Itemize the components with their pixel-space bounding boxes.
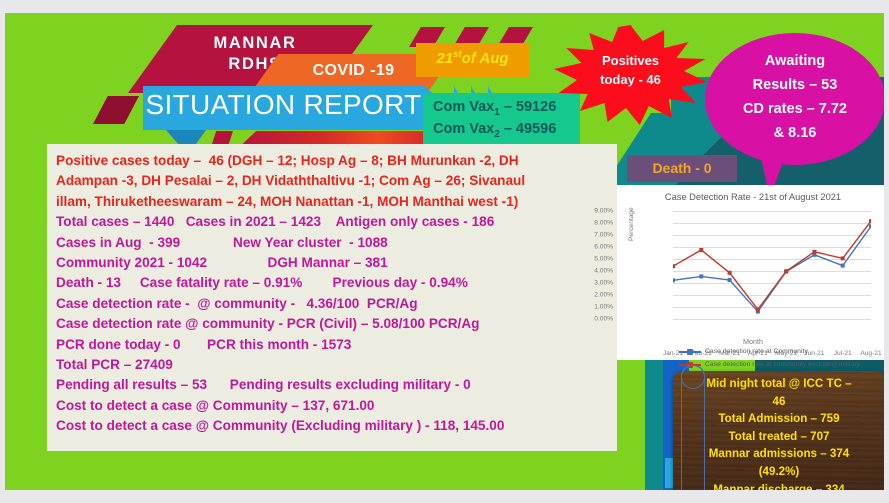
body-red-line: Adampan -3, DH Pesalai – 2, DH Vidaththa… [56, 171, 617, 191]
statistics-card-inner: Positive cases today – 46 (DGH – 12; Hos… [47, 144, 617, 437]
chart-y-tick: 6.00% [579, 244, 613, 251]
icc-tc-line: Mid night total @ ICC TC – [673, 375, 884, 393]
chart-marker [728, 271, 732, 275]
body-stat-line: Total cases – 1440 Cases in 2021 – 1423 … [56, 212, 617, 232]
body-stat-line: Case detection rate - @ community - 4.36… [56, 294, 617, 314]
chart-legend: Case detection rate at CommunityCase det… [679, 345, 860, 371]
awaiting-results-callout: Awaiting Results – 53 CD rates – 7.72 & … [705, 49, 884, 145]
chart-y-axis-label: Percentage [628, 207, 635, 241]
date-day: 21 [436, 50, 453, 67]
body-stat-line: Total PCR – 27409 [56, 355, 617, 375]
chart-marker [841, 256, 845, 260]
icc-tc-line: (49.2%) [673, 463, 884, 481]
com-vax-1-label: Com Vax [433, 99, 494, 115]
chart-marker [699, 274, 703, 278]
body-stat-line: PCR done today - 0 PCR this month - 1573 [56, 335, 617, 355]
icc-tc-line: Total treated – 707 [673, 428, 884, 446]
body-stat-line: Cost to detect a case @ Community – 137,… [56, 396, 617, 416]
body-stat-line: Death - 13 Case fatality rate – 0.91% Pr… [56, 273, 617, 293]
chart-y-tick: 8.00% [579, 220, 613, 227]
date-month: of Aug [462, 50, 509, 67]
chart-y-tick: 5.00% [579, 256, 613, 263]
body-stat-line: Community 2021 - 1042 DGH Mannar – 381 [56, 253, 617, 273]
chart-plot-area: 0.00%1.00%2.00%3.00%4.00%5.00%6.00%7.00%… [673, 211, 871, 319]
awaiting-line-4: & 8.16 [705, 121, 884, 145]
body-red-line: illam, Thiruketheeswaram – 24, MOH Nanat… [56, 192, 617, 212]
chart-legend-label: Case detection rate at Community [705, 348, 808, 355]
chart-series-svg [673, 211, 871, 319]
chart-line [673, 226, 871, 311]
com-vax-1: Com Vax1 – 59126 [433, 99, 556, 118]
chart-legend-swatch [679, 351, 701, 353]
chart-y-tick: 9.00% [579, 208, 613, 215]
chart-legend-item: Case detection rate at Community [679, 345, 860, 358]
body-red-line: Positive cases today – 46 (DGH – 12; Hos… [56, 151, 617, 171]
chart-legend-item: Case detection rate at community excludi… [679, 358, 860, 371]
chart-marker [728, 278, 732, 282]
chart-marker [784, 269, 788, 273]
icc-tc-line: Total Admission – 759 [673, 410, 884, 428]
header-green-block [5, 13, 135, 153]
chart-y-tick: 0.00% [579, 316, 613, 323]
chart-y-tick: 4.00% [579, 268, 613, 275]
body-stat-line: Cost to detect a case @ Community (Exclu… [56, 416, 617, 436]
com-vax-2-value: – 49596 [500, 121, 556, 137]
org-name-line1: MANNAR [155, 33, 355, 54]
body-stat-line: Case detection rate @ community - PCR (C… [56, 314, 617, 334]
body-stat-line: Pending all results – 53 Pending results… [56, 375, 617, 395]
positives-today-callout: Positives today - 46 [554, 51, 707, 89]
com-vax-2: Com Vax2 – 49596 [433, 121, 556, 140]
awaiting-line-3: CD rates – 7.72 [705, 97, 884, 121]
slide: MANNAR RDHS COVID -19 SITUATION REPORT 2… [5, 13, 884, 490]
chart-marker [756, 307, 760, 311]
date-label: 21stof Aug [416, 49, 529, 67]
com-vax-2-label: Com Vax [433, 121, 494, 137]
report-canvas: MANNAR RDHS COVID -19 SITUATION REPORT 2… [0, 0, 889, 503]
awaiting-line-2: Results – 53 [705, 73, 884, 97]
chart-marker [841, 264, 845, 268]
icc-tc-line: 46 [673, 393, 884, 411]
positives-label: Positives [554, 51, 707, 70]
chart-marker [869, 219, 871, 223]
chart-y-tick: 3.00% [579, 280, 613, 287]
case-detection-chart: Case Detection Rate - 21st of August 202… [617, 185, 884, 360]
com-vax-1-value: – 59126 [500, 99, 556, 115]
chart-y-tick: 7.00% [579, 232, 613, 239]
chart-legend-label: Case detection rate at community excludi… [705, 361, 860, 368]
chart-y-tick: 1.00% [579, 304, 613, 311]
icc-tc-line: Mannar admissions – 374 [673, 445, 884, 463]
chart-marker [673, 264, 675, 268]
status-badge: Death - 0 [627, 160, 737, 176]
chart-title: Case Detection Rate - 21st of August 202… [617, 192, 884, 202]
chart-marker [699, 248, 703, 252]
positives-value: today - 46 [554, 70, 707, 89]
page-title: SITUATION REPORT [143, 89, 424, 121]
chart-marker [812, 250, 816, 254]
chart-marker [869, 224, 871, 228]
icc-tc-stats: Mid night total @ ICC TC –46Total Admiss… [673, 375, 884, 490]
icc-tc-line: Mannar discharge – 334 [673, 481, 884, 490]
date-ordinal: st [453, 49, 461, 60]
awaiting-line-1: Awaiting [705, 49, 884, 73]
chart-gridline [673, 319, 871, 320]
statistics-card: Positive cases today – 46 (DGH – 12; Hos… [44, 144, 617, 451]
chart-marker [673, 278, 675, 282]
body-stat-line: Cases in Aug - 399 New Year cluster - 10… [56, 233, 617, 253]
chart-y-tick: 2.00% [579, 292, 613, 299]
